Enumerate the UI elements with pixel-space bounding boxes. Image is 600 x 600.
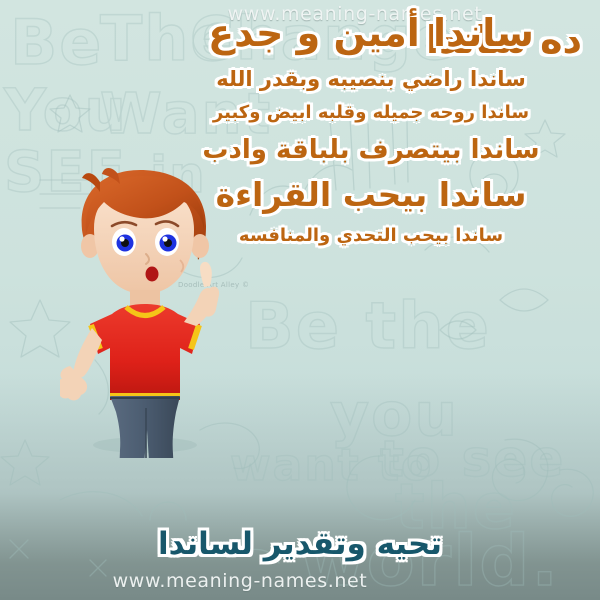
name-line: ساندا أمين و جدع: [156, 14, 586, 54]
doodle-word: Be: [10, 6, 103, 79]
poster-canvas: BeTheChangeYouWantSEEinBe theyouto seeth…: [0, 0, 600, 600]
name-line: ساندا راضي بنصيبه وبقدر الله: [156, 68, 586, 90]
name-line: ساندا بيحب القراءة: [156, 178, 586, 213]
footer-greeting: تحيه وتقدير لساندا: [0, 526, 600, 562]
name-description-list: ساندا أمين و جدعساندا راضي بنصيبه وبقدر …: [156, 14, 586, 260]
watermark-bottom: www.meaning-names.net: [0, 570, 600, 592]
doodle-word: You: [4, 76, 128, 144]
name-line: ساندا بيحب التحدي والمنافسه: [156, 227, 586, 246]
name-line: ساندا روحه جميله وقلبه ابيض وكبير: [156, 104, 586, 123]
doodle-word: you: [330, 380, 459, 450]
name-line: ساندا بيتصرف بلباقة وادب: [156, 137, 586, 164]
doodle-word: want to: [230, 440, 433, 491]
doodle-word: to see: [380, 430, 565, 488]
doodle-word: Be the: [245, 290, 491, 364]
